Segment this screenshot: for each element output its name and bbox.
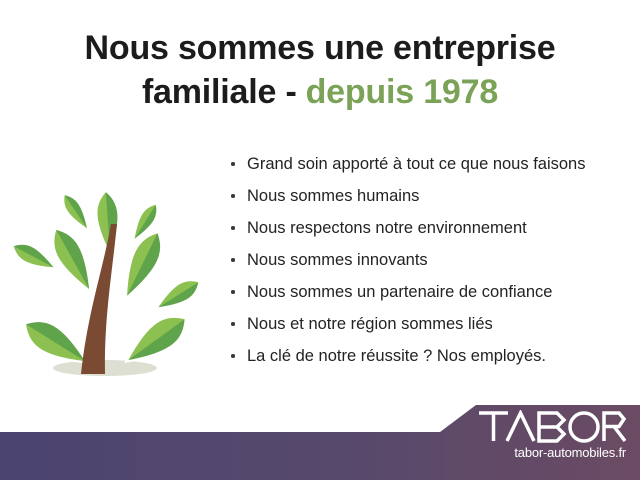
brand-domain-label: tabor-automobiles.fr: [478, 445, 626, 460]
leaf-left-mid: [45, 223, 101, 298]
value-proposition-list: Grand soin apporté à tout ce que nous fa…: [228, 148, 628, 372]
list-item: Nous sommes un partenaire de confiance: [228, 276, 628, 308]
bullet-dot-icon: [231, 162, 235, 166]
list-item: Nous sommes innovants: [228, 244, 628, 276]
bullet-dot-icon: [231, 322, 235, 326]
leaf-top-left: [58, 191, 93, 234]
list-item-label: Nous respectons notre environnement: [247, 219, 527, 237]
list-item-label: Nous sommes humains: [247, 187, 419, 205]
leaf-left-outer: [9, 238, 59, 275]
bullet-dot-icon: [231, 194, 235, 198]
list-item-label: Nous sommes un partenaire de confiance: [247, 283, 552, 301]
list-item-label: Nous sommes innovants: [247, 251, 428, 269]
family-tree-illustration: [8, 150, 208, 385]
tabor-wordmark: [478, 410, 626, 444]
bullet-dot-icon: [231, 354, 235, 358]
title-line-1: Nous sommes une entreprise: [0, 26, 640, 70]
bullet-dot-icon: [231, 290, 235, 294]
leaf-right-outer: [152, 274, 204, 316]
tree-trunk: [81, 224, 117, 374]
page-title: Nous sommes une entreprise familiale -de…: [0, 26, 640, 114]
list-item-label: Grand soin apporté à tout ce que nous fa…: [247, 155, 585, 173]
list-item: Nous respectons notre environnement: [228, 212, 628, 244]
list-item-label: Nous et notre région sommes liés: [247, 315, 493, 333]
leaf-right-mid: [115, 226, 170, 303]
title-line-2-main: familiale -: [142, 73, 297, 111]
list-item: Nous et notre région sommes liés: [228, 308, 628, 340]
brand-logo[interactable]: tabor-automobiles.fr: [478, 410, 626, 460]
list-item: Grand soin apporté à tout ce que nous fa…: [228, 148, 628, 180]
bullet-dot-icon: [231, 226, 235, 230]
title-accent-since-1978: depuis 1978: [306, 73, 498, 111]
list-item-label: La clé de notre réussite ? Nos employés.: [247, 347, 546, 365]
title-line-2: familiale -depuis 1978: [0, 70, 640, 114]
list-item: La clé de notre réussite ? Nos employés.: [228, 340, 628, 372]
bullet-dot-icon: [231, 258, 235, 262]
tree-ground-shadow: [53, 360, 157, 376]
list-item: Nous sommes humains: [228, 180, 628, 212]
